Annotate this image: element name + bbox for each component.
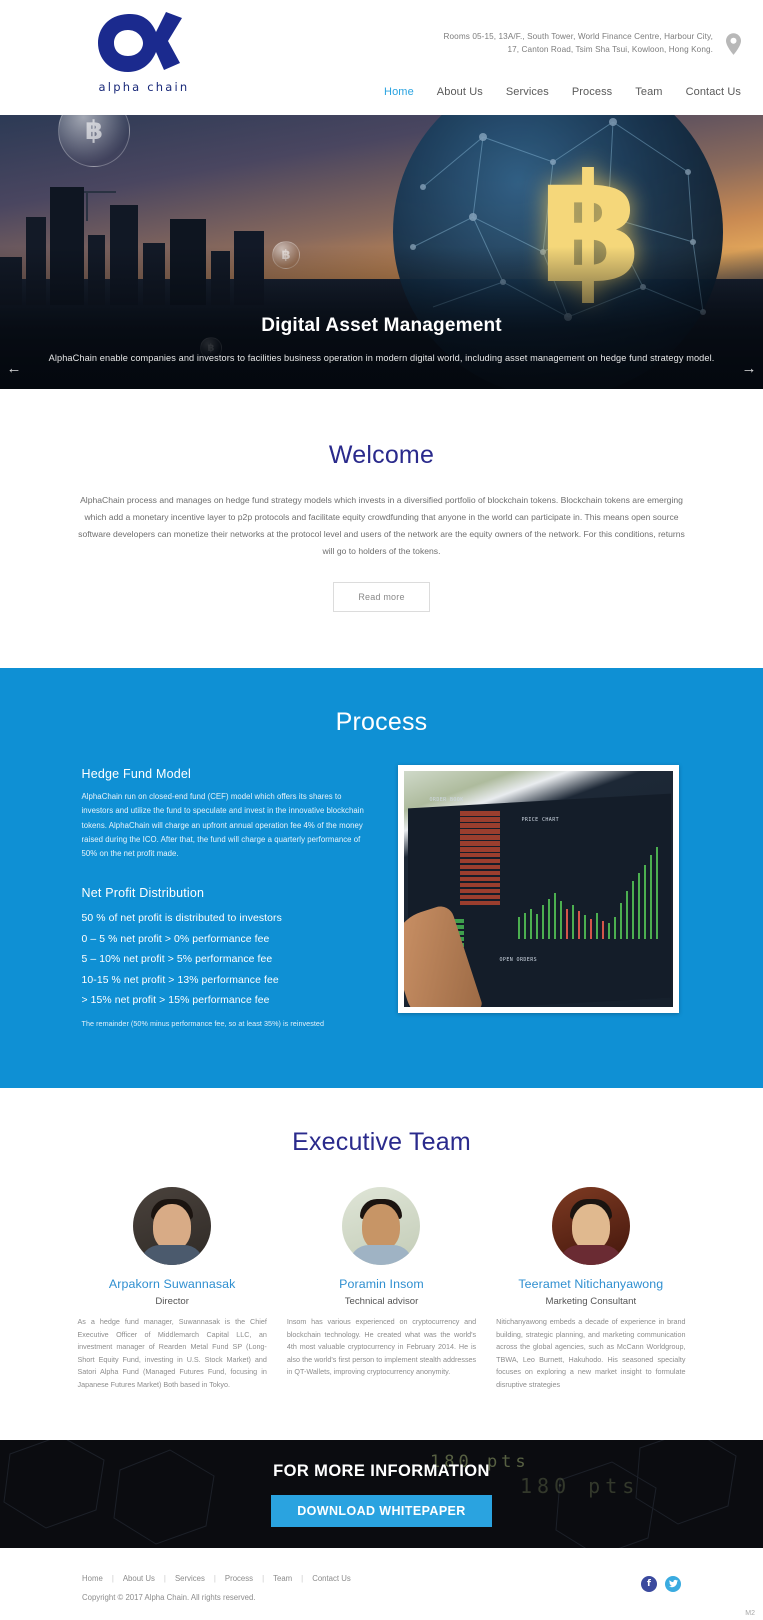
cta-section: 180 pts 180 pts FOR MORE INFORMATION DOW… (0, 1440, 763, 1548)
twitter-bird-icon (669, 1579, 678, 1588)
avatar (342, 1187, 420, 1265)
member-role: Marketing Consultant (494, 1296, 687, 1307)
net-profit-distribution-title: Net Profit Distribution (82, 886, 372, 900)
footer-links[interactable]: Home | About Us | Services | Process | T… (82, 1574, 360, 1583)
team-member-card: Poramin Insom Technical advisor Insom ha… (285, 1187, 478, 1392)
nav-item-home[interactable]: Home (384, 86, 414, 98)
open-orders-label: OPEN ORDERS (500, 957, 538, 963)
process-heading: Process (0, 708, 763, 737)
welcome-section: Welcome AlphaChain process and manages o… (0, 389, 763, 668)
site-footer: Home | About Us | Services | Process | T… (0, 1548, 763, 1620)
address-line-2: 17, Canton Road, Tsim Sha Tsui, Kowloon,… (383, 43, 713, 56)
hedge-fund-model-body: AlphaChain run on closed-end fund (CEF) … (82, 790, 372, 861)
corner-mark: M2 (745, 1610, 755, 1617)
footer-link-about-us[interactable]: About Us (114, 1574, 164, 1583)
nav-item-contact-us[interactable]: Contact Us (686, 86, 741, 98)
member-bio: As a hedge fund manager, Suwannasak is t… (76, 1316, 269, 1392)
page-root: alpha chain Rooms 05-15, 13A/F., South T… (0, 0, 763, 1620)
twitter-icon[interactable] (665, 1576, 681, 1592)
welcome-body: AlphaChain process and manages on hedge … (78, 492, 686, 560)
social-links[interactable]: f (641, 1576, 681, 1592)
hero-title: Digital Asset Management (0, 315, 763, 337)
avatar (133, 1187, 211, 1265)
process-image-column: ORDER BOOK PRICE CHART OPEN ORDERS (398, 765, 680, 1028)
nav-item-services[interactable]: Services (506, 86, 549, 98)
fee-line: 50 % of net profit is distributed to inv… (82, 909, 372, 930)
process-text-column: Hedge Fund Model AlphaChain run on close… (82, 765, 372, 1028)
hero-carousel: ฿ ฿ ฿ ฿ ฿ ฿ ← → Digital Asset Management… (0, 115, 763, 389)
address-block: Rooms 05-15, 13A/F., South Tower, World … (383, 30, 713, 56)
member-name[interactable]: Teeramet Nitichanyawong (494, 1277, 687, 1291)
main-navigation[interactable]: Home About Us Services Process Team Cont… (384, 86, 741, 98)
fee-line: 10-15 % net profit > 13% performance fee (82, 971, 372, 992)
logo[interactable]: alpha chain (84, 8, 204, 94)
member-role: Director (76, 1296, 269, 1307)
avatar (552, 1187, 630, 1265)
member-role: Technical advisor (285, 1296, 478, 1307)
hero-copy: Digital Asset Management AlphaChain enab… (0, 315, 763, 363)
member-bio: Insom has various experienced on cryptoc… (285, 1316, 478, 1379)
nav-item-about-us[interactable]: About Us (437, 86, 483, 98)
footer-link-contact-us[interactable]: Contact Us (303, 1574, 360, 1583)
footer-link-services[interactable]: Services (166, 1574, 214, 1583)
footer-link-team[interactable]: Team (264, 1574, 301, 1583)
nav-item-team[interactable]: Team (635, 86, 662, 98)
footer-link-home[interactable]: Home (82, 1574, 112, 1583)
address-line-1: Rooms 05-15, 13A/F., South Tower, World … (383, 30, 713, 43)
fee-line: > 15% net profit > 15% performance fee (82, 991, 372, 1012)
member-name[interactable]: Arpakorn Suwannasak (76, 1277, 269, 1291)
welcome-heading: Welcome (0, 441, 763, 470)
fee-line: 5 – 10% net profit > 5% performance fee (82, 950, 372, 971)
executive-team-section: Executive Team Arpakorn Suwannasak Direc… (0, 1088, 763, 1440)
footer-link-process[interactable]: Process (216, 1574, 262, 1583)
carousel-next-arrow-icon[interactable]: → (739, 358, 759, 378)
member-bio: Nitichanyawong embeds a decade of experi… (494, 1316, 687, 1392)
site-header: alpha chain Rooms 05-15, 13A/F., South T… (0, 0, 763, 115)
facebook-icon[interactable]: f (641, 1576, 657, 1592)
map-pin-icon (726, 33, 741, 55)
order-book-label: ORDER BOOK (430, 797, 464, 803)
fee-line: 0 – 5 % net profit > 0% performance fee (82, 930, 372, 951)
logo-wordmark: alpha chain (84, 80, 204, 94)
team-member-card: Arpakorn Suwannasak Director As a hedge … (76, 1187, 269, 1392)
member-name[interactable]: Poramin Insom (285, 1277, 478, 1291)
cta-title: FOR MORE INFORMATION (0, 1462, 763, 1481)
carousel-prev-arrow-icon[interactable]: ← (4, 358, 24, 378)
team-heading: Executive Team (0, 1128, 763, 1157)
price-chart-label: PRICE CHART (522, 817, 560, 823)
hedge-fund-model-title: Hedge Fund Model (82, 767, 372, 781)
trading-screenshot-image: ORDER BOOK PRICE CHART OPEN ORDERS (404, 771, 673, 1007)
remainder-note: The remainder (50% minus performance fee… (82, 1019, 372, 1028)
download-whitepaper-button[interactable]: DOWNLOAD WHITEPAPER (271, 1495, 491, 1527)
nav-item-process[interactable]: Process (572, 86, 612, 98)
team-member-card: Teeramet Nitichanyawong Marketing Consul… (494, 1187, 687, 1392)
copyright-text: Copyright © 2017 Alpha Chain. All rights… (82, 1593, 255, 1602)
hero-subtitle: AlphaChain enable companies and investor… (0, 353, 763, 363)
process-section: Process Hedge Fund Model AlphaChain run … (0, 668, 763, 1088)
trading-screenshot-frame: ORDER BOOK PRICE CHART OPEN ORDERS (398, 765, 679, 1013)
read-more-button[interactable]: Read more (333, 582, 429, 612)
alpha-chain-logo-icon (94, 8, 194, 78)
